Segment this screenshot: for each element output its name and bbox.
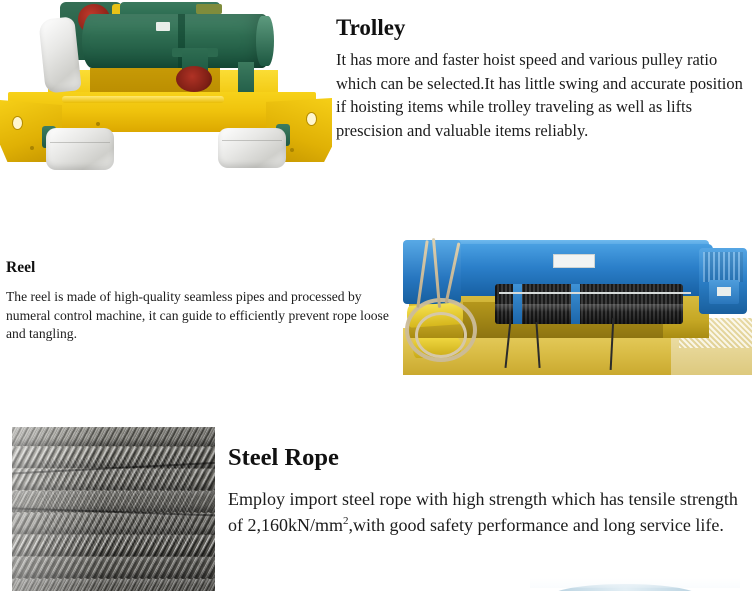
- trolley-motor-support: [238, 62, 254, 92]
- reel-heading: Reel: [6, 258, 396, 278]
- trolley-wrap-crease: [50, 142, 110, 143]
- trolley-red-pulley-wheel: [176, 66, 212, 92]
- trolley-description: It has more and faster hoist speed and v…: [336, 48, 748, 142]
- trolley-wrapped-part-top: [38, 16, 82, 93]
- next-section-image-peek: [530, 578, 740, 591]
- trolley-wrapped-wheel-left: [46, 128, 114, 170]
- trolley-product-image: [0, 0, 332, 177]
- trolley-bolt: [30, 146, 34, 150]
- trolley-motor-end-cap: [256, 16, 274, 66]
- reel-text-block: Reel The reel is made of high-quality se…: [6, 258, 396, 344]
- trolley-text-block: Trolley It has more and faster hoist spe…: [336, 14, 748, 142]
- trolley-lifting-hole-right: [306, 112, 317, 126]
- reel-drum-highlight: [495, 304, 683, 312]
- reel-drum-strap: [571, 284, 580, 324]
- steel-rope-product-image: [12, 427, 215, 591]
- reel-description: The reel is made of high-quality seamles…: [6, 288, 396, 344]
- steel-rope-heading: Steel Rope: [228, 443, 752, 473]
- trolley-wrap-crease: [222, 140, 282, 141]
- product-feature-page: Trolley It has more and faster hoist spe…: [0, 0, 752, 591]
- reel-rope-guide-rod: [499, 292, 691, 294]
- trolley-terminal-box: [196, 4, 222, 14]
- reel-rope-coil-inner: [415, 312, 467, 358]
- reel-junction-label: [717, 287, 731, 296]
- trolley-bolt: [96, 122, 100, 126]
- trolley-cross-bar: [62, 96, 224, 103]
- trolley-hoist-motor-drum: [82, 14, 272, 68]
- steel-rope-description-tail: ,with good safety performance and long s…: [349, 515, 724, 535]
- steel-rope-text-block: Steel Rope Employ import steel rope with…: [228, 443, 752, 538]
- trolley-nameplate: [156, 22, 170, 31]
- trolley-bolt: [290, 148, 294, 152]
- trolley-lifting-hole-left: [12, 116, 23, 130]
- next-section-fade: [530, 578, 740, 588]
- trolley-heading: Trolley: [336, 14, 748, 42]
- reel-nameplate: [553, 254, 595, 268]
- reel-product-image: [403, 232, 752, 375]
- trolley-illustration: [0, 0, 332, 177]
- trolley-wrapped-wheel-right: [218, 128, 286, 168]
- reel-motor-cooling-fins: [703, 252, 743, 282]
- steel-rope-description: Employ import steel rope with high stren…: [228, 487, 752, 538]
- reel-drum-strap: [513, 284, 522, 324]
- steel-rope-highlight: [12, 427, 102, 591]
